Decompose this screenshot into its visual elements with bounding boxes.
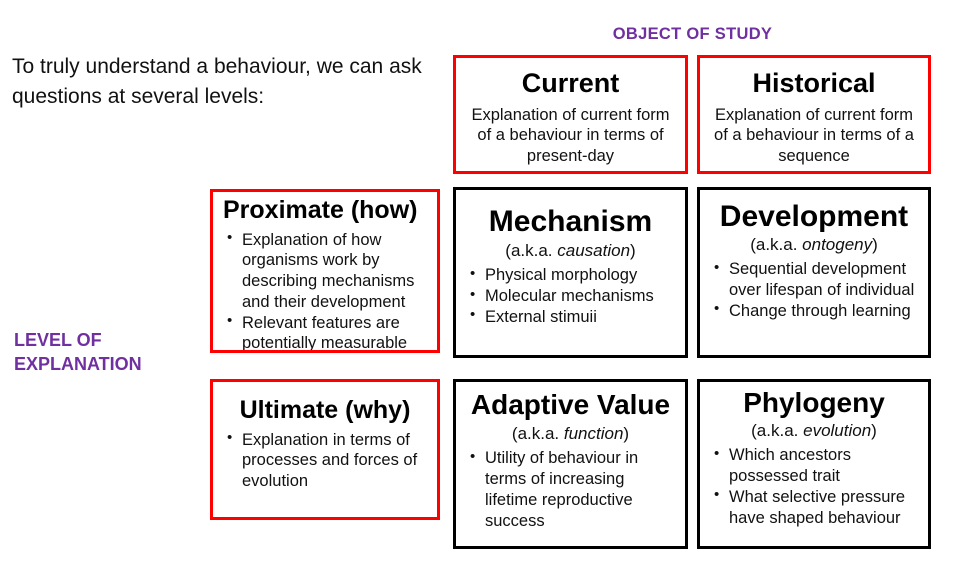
bullet-item: External stimuii [468, 307, 679, 328]
cell-adaptive-value-aka-term: function [564, 424, 624, 443]
cell-mechanism-bullets: Physical morphologyMolecular mechanismsE… [456, 265, 685, 327]
cell-historical-title: Historical [700, 69, 928, 99]
cell-proximate: Proximate (how) Explanation of how organ… [210, 189, 440, 353]
cell-adaptive-value-aka-prefix: (a.k.a. [512, 424, 564, 443]
cell-adaptive-value-aka: (a.k.a. function) [456, 424, 685, 444]
cell-proximate-title: Proximate (how) [213, 197, 437, 225]
cell-ultimate-title: Ultimate (why) [213, 397, 437, 425]
level-of-explanation-line2: EXPLANATION [14, 352, 204, 376]
cell-mechanism-aka: (a.k.a. causation) [456, 241, 685, 261]
cell-mechanism: Mechanism (a.k.a. causation) Physical mo… [453, 187, 688, 358]
cell-phylogeny-bullets: Which ancestors possessed traitWhat sele… [700, 445, 928, 528]
cell-adaptive-value-title: Adaptive Value [456, 390, 685, 421]
cell-mechanism-aka-term: causation [557, 241, 630, 260]
cell-mechanism-title: Mechanism [456, 205, 685, 238]
intro-paragraph: To truly understand a behaviour, we can … [12, 52, 432, 112]
bullet-item: Change through learning [712, 301, 920, 322]
cell-adaptive-value: Adaptive Value (a.k.a. function) Utility… [453, 379, 688, 549]
cell-development-title: Development [700, 200, 928, 233]
cell-phylogeny-aka: (a.k.a. evolution) [700, 421, 928, 441]
cell-historical-body: Explanation of current form of a behavio… [700, 105, 928, 167]
cell-current: Current Explanation of current form of a… [453, 55, 688, 174]
bullet-item: Molecular mechanisms [468, 286, 679, 307]
cell-phylogeny-aka-term: evolution [803, 421, 871, 440]
cell-proximate-bullets: Explanation of how organisms work by des… [213, 230, 437, 354]
bullet-item: Explanation in terms of processes and fo… [225, 430, 429, 492]
cell-adaptive-value-aka-suffix: ) [623, 424, 629, 443]
cell-development-bullets: Sequential development over lifespan of … [700, 259, 928, 321]
bullet-item: Explanation of how organisms work by des… [225, 230, 429, 313]
level-of-explanation-axis-label: LEVEL OF EXPLANATION [14, 328, 204, 377]
cell-development-aka-prefix: (a.k.a. [750, 235, 802, 254]
cell-ultimate-bullets: Explanation in terms of processes and fo… [213, 430, 437, 492]
cell-mechanism-aka-suffix: ) [630, 241, 636, 260]
bullet-item: What selective pressure have shaped beha… [712, 487, 920, 529]
bullet-item: Which ancestors possessed trait [712, 445, 920, 487]
cell-development-aka: (a.k.a. ontogeny) [700, 235, 928, 255]
cell-phylogeny-aka-suffix: ) [871, 421, 877, 440]
cell-phylogeny-title: Phylogeny [700, 388, 928, 419]
object-of-study-axis-label: OBJECT OF STUDY [455, 25, 930, 44]
cell-phylogeny: Phylogeny (a.k.a. evolution) Which ances… [697, 379, 931, 549]
cell-mechanism-aka-prefix: (a.k.a. [505, 241, 557, 260]
bullet-item: Sequential development over lifespan of … [712, 259, 920, 301]
cell-current-body: Explanation of current form of a behavio… [456, 105, 685, 167]
cell-development-aka-suffix: ) [872, 235, 878, 254]
bullet-item: Relevant features are potentially measur… [225, 313, 429, 353]
cell-adaptive-value-bullets: Utility of behaviour in terms of increas… [456, 448, 685, 531]
level-of-explanation-line1: LEVEL OF [14, 328, 204, 352]
bullet-item: Physical morphology [468, 265, 679, 286]
cell-historical: Historical Explanation of current form o… [697, 55, 931, 174]
bullet-item: Utility of behaviour in terms of increas… [468, 448, 677, 531]
cell-development: Development (a.k.a. ontogeny) Sequential… [697, 187, 931, 358]
cell-ultimate: Ultimate (why) Explanation in terms of p… [210, 379, 440, 520]
cell-phylogeny-aka-prefix: (a.k.a. [751, 421, 803, 440]
cell-current-title: Current [456, 69, 685, 99]
cell-development-aka-term: ontogeny [802, 235, 872, 254]
